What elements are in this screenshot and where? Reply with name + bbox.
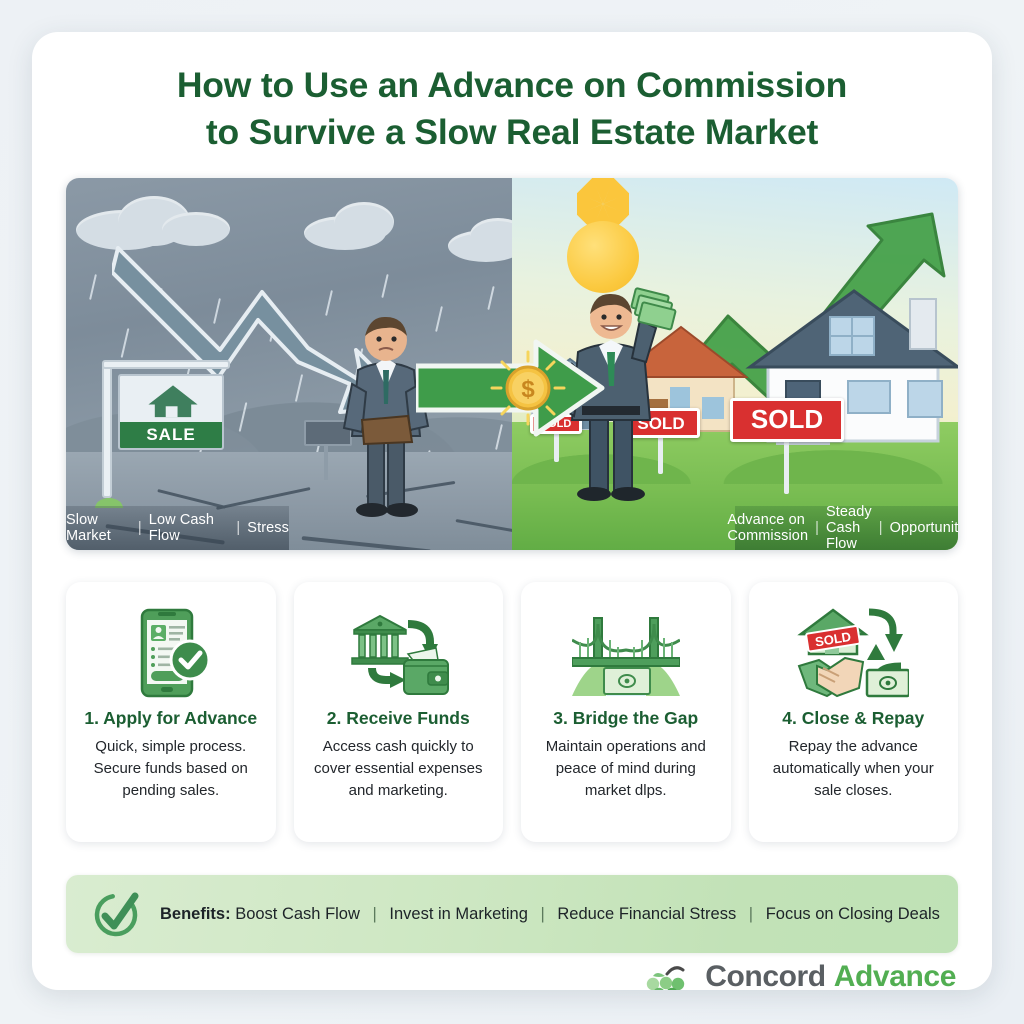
page-title: How to Use an Advance on Commission to S…	[32, 62, 992, 155]
dollar-coin-icon: $	[490, 350, 566, 426]
benefit-separator: |	[373, 905, 377, 923]
check-circle-icon	[90, 888, 142, 940]
grape-cluster-icon	[641, 962, 693, 990]
step-title: 1. Apply for Advance	[84, 708, 257, 729]
step-card-bridge-the-gap[interactable]: 3. Bridge the Gap Maintain operations an…	[521, 582, 731, 842]
sale-sign-board: SALE	[118, 374, 224, 450]
hero-caption-right: Advance on Commission | Steady Cash Flow…	[735, 506, 958, 550]
benefit-separator: |	[540, 905, 544, 923]
step-card-apply-for-advance[interactable]: 1. Apply for Advance Quick, simple proce…	[66, 582, 276, 842]
step-card-receive-funds[interactable]: 2. Receive Funds Access cash quickly to …	[294, 582, 504, 842]
benefit-item-2: Invest in Marketing	[389, 905, 527, 923]
title-line-1: How to Use an Advance on Commission	[70, 62, 954, 109]
caption-right-item-3: Opportunity	[890, 520, 958, 536]
logo-name-part-1: Concord	[705, 960, 826, 990]
sale-sign-arm	[102, 360, 230, 369]
caption-separator: |	[138, 520, 142, 536]
benefit-item-4: Focus on Closing Deals	[766, 905, 940, 923]
sold-house-handshake-cash-icon: SOLD	[797, 606, 909, 702]
benefit-item-1: Boost Cash Flow	[235, 905, 360, 923]
sold-sign-3: SOLD	[730, 398, 844, 442]
content-sheet: How to Use an Advance on Commission to S…	[32, 32, 992, 990]
hero-caption-left: Slow Market | Low Cash Flow | Stress	[66, 506, 289, 550]
step-description: Quick, simple process. Secure funds base…	[79, 736, 263, 802]
step-description: Maintain operations and peace of mind du…	[534, 736, 718, 802]
infographic-page: How to Use an Advance on Commission to S…	[0, 0, 1024, 1024]
logo-text: ConcordAdvance Cash flow made easy	[705, 962, 956, 990]
step-description: Access cash quickly to cover essential e…	[307, 736, 491, 802]
step-description: Repay the advance automatically when you…	[762, 736, 946, 802]
house-icon	[120, 379, 224, 419]
step-title: 4. Close & Repay	[782, 708, 924, 729]
title-line-2: to Survive a Slow Real Estate Market	[70, 109, 954, 156]
logo-name: ConcordAdvance	[705, 962, 956, 990]
benefit-separator: |	[749, 905, 753, 923]
sale-sign-label: SALE	[120, 422, 222, 448]
caption-separator: |	[236, 520, 240, 536]
caption-left-item-2: Low Cash Flow	[149, 512, 230, 544]
caption-left-item-3: Stress	[247, 520, 289, 536]
benefits-label: Benefits:	[160, 905, 231, 923]
step-title: 2. Receive Funds	[327, 708, 470, 729]
bridge-over-gap-with-banknote-icon	[572, 606, 680, 702]
sold-sign-post	[784, 434, 789, 494]
caption-separator: |	[879, 520, 883, 536]
caption-separator: |	[815, 520, 819, 536]
steps-row: 1. Apply for Advance Quick, simple proce…	[66, 582, 958, 842]
logo-name-part-2: Advance	[834, 960, 956, 990]
rain-drop	[487, 286, 494, 310]
caption-right-item-1: Advance on Commission	[727, 512, 808, 544]
benefit-item-3: Reduce Financial Stress	[557, 905, 736, 923]
benefits-text: Benefits: Boost Cash Flow | Invest in Ma…	[160, 905, 940, 924]
step-card-close-and-repay[interactable]: SOLD 4. Close & Repay	[749, 582, 959, 842]
step-title: 3. Bridge the Gap	[553, 708, 698, 729]
bank-to-wallet-transfer-icon	[346, 606, 450, 702]
benefits-bar: Benefits: Boost Cash Flow | Invest in Ma…	[66, 875, 958, 953]
sale-sign-post	[102, 362, 112, 498]
caption-left-item-1: Slow Market	[66, 512, 131, 544]
brand-logo[interactable]: ConcordAdvance Cash flow made easy	[641, 962, 956, 990]
caption-right-item-2: Steady Cash Flow	[826, 504, 872, 550]
rain-drop	[89, 274, 97, 300]
hero-illustration: SALE	[66, 178, 958, 550]
smartphone-application-check-icon	[128, 606, 214, 702]
svg-text:$: $	[521, 376, 535, 403]
